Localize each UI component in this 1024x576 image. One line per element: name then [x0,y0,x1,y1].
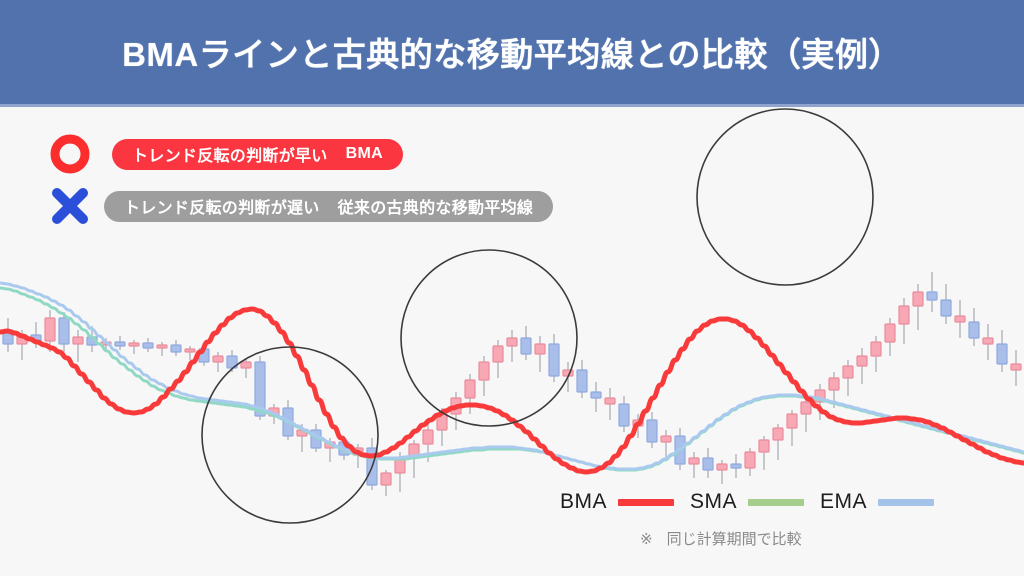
callout-list: トレンド反転の判断が早い BMA トレンド反転の判断が遅い 従来の古典的な移動平… [0,128,1024,232]
slide-root: BMAラインと古典的な移動平均線との比較（実例） トレンド反転の判断が早い BM… [0,0,1024,576]
annotation-circle-2 [401,250,577,426]
callout-pill-classic: トレンド反転の判断が遅い 従来の古典的な移動平均線 [104,191,553,222]
callout-row-bma: トレンド反転の判断が早い BMA [0,128,1024,180]
callout-pill-bma: トレンド反転の判断が早い BMA [112,139,403,170]
note-symbol: ※ [640,530,653,548]
slide-header: BMAラインと古典的な移動平均線との比較（実例） [0,0,1024,104]
callout-bma-tag: BMA [346,145,383,163]
legend-item-ema: EMA [820,490,934,514]
legend-label-sma: SMA [690,490,737,514]
moving-average-lines [0,283,1024,472]
legend-swatch-sma [748,499,804,506]
callout-row-classic: トレンド反転の判断が遅い 従来の古典的な移動平均線 [0,180,1024,232]
legend-label-bma: BMA [560,490,607,514]
candles-layer [3,272,1021,496]
callout-bma-text: トレンド反転の判断が早い [132,142,328,166]
page-title: BMAラインと古典的な移動平均線との比較（実例） [122,28,902,76]
legend-item-bma: BMA [560,490,674,514]
callout-classic-text: トレンド反転の判断が遅い [124,194,320,218]
legend-item-sma: SMA [690,490,804,514]
legend-swatch-ema [878,499,934,506]
note-text: 同じ計算期間で比較 [667,528,802,549]
cross-mark-icon [42,183,98,229]
ma-line-ema [0,283,1024,469]
legend-note: ※ 同じ計算期間で比較 [640,528,1020,549]
chart-legend: BMA SMA EMA [560,490,1000,514]
legend-swatch-bma [618,499,674,506]
legend-label-ema: EMA [820,490,867,514]
callout-classic-tag: 従来の古典的な移動平均線 [338,194,534,218]
circle-mark-icon [42,131,98,177]
